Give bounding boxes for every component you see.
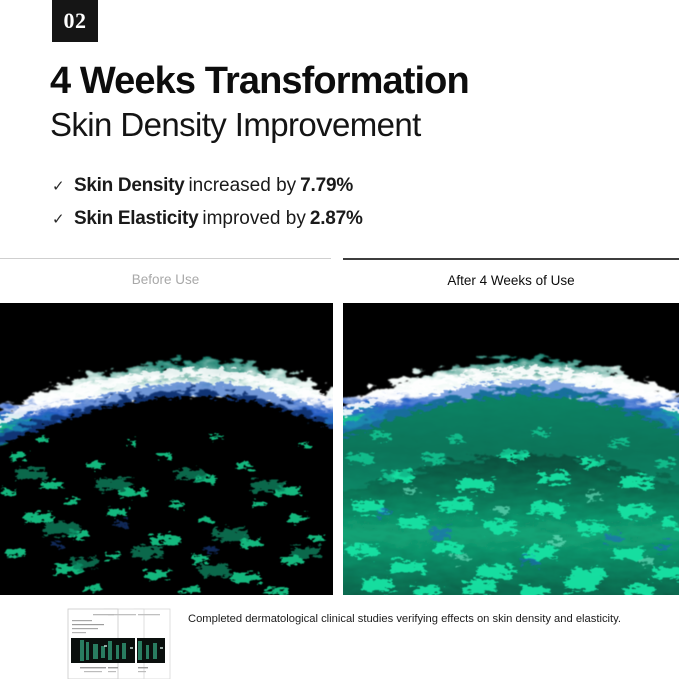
section-number-badge: 02 xyxy=(52,0,98,42)
ultrasound-image-before xyxy=(0,303,333,595)
result-verb: improved by xyxy=(198,203,310,235)
ultrasound-image-after xyxy=(343,303,679,595)
before-label: Before Use xyxy=(0,259,331,287)
after-label-cell: After 4 Weeks of Use xyxy=(343,258,679,303)
study-caption: Completed dermatological clinical studie… xyxy=(188,612,648,626)
result-value: 2.87% xyxy=(310,203,363,235)
list-item: ✓ Skin Elasticity improved by 2.87% xyxy=(52,203,363,236)
check-icon: ✓ xyxy=(52,204,74,236)
comparison-images xyxy=(0,303,679,595)
results-list: ✓ Skin Density increased by 7.79% ✓ Skin… xyxy=(52,170,363,236)
clinical-study-report-thumbnail[interactable] xyxy=(60,601,172,679)
check-icon: ✓ xyxy=(52,171,74,203)
list-item: ✓ Skin Density increased by 7.79% xyxy=(52,170,363,203)
comparison-labels: Before Use After 4 Weeks of Use xyxy=(0,258,679,303)
result-value: 7.79% xyxy=(300,170,353,202)
page-title: 4 Weeks Transformation xyxy=(50,60,469,103)
result-metric: Skin Density xyxy=(74,170,184,202)
result-metric: Skin Elasticity xyxy=(74,203,198,235)
before-label-cell: Before Use xyxy=(0,258,331,303)
after-label: After 4 Weeks of Use xyxy=(343,260,679,288)
page-subtitle: Skin Density Improvement xyxy=(50,106,421,144)
result-verb: increased by xyxy=(184,170,300,202)
